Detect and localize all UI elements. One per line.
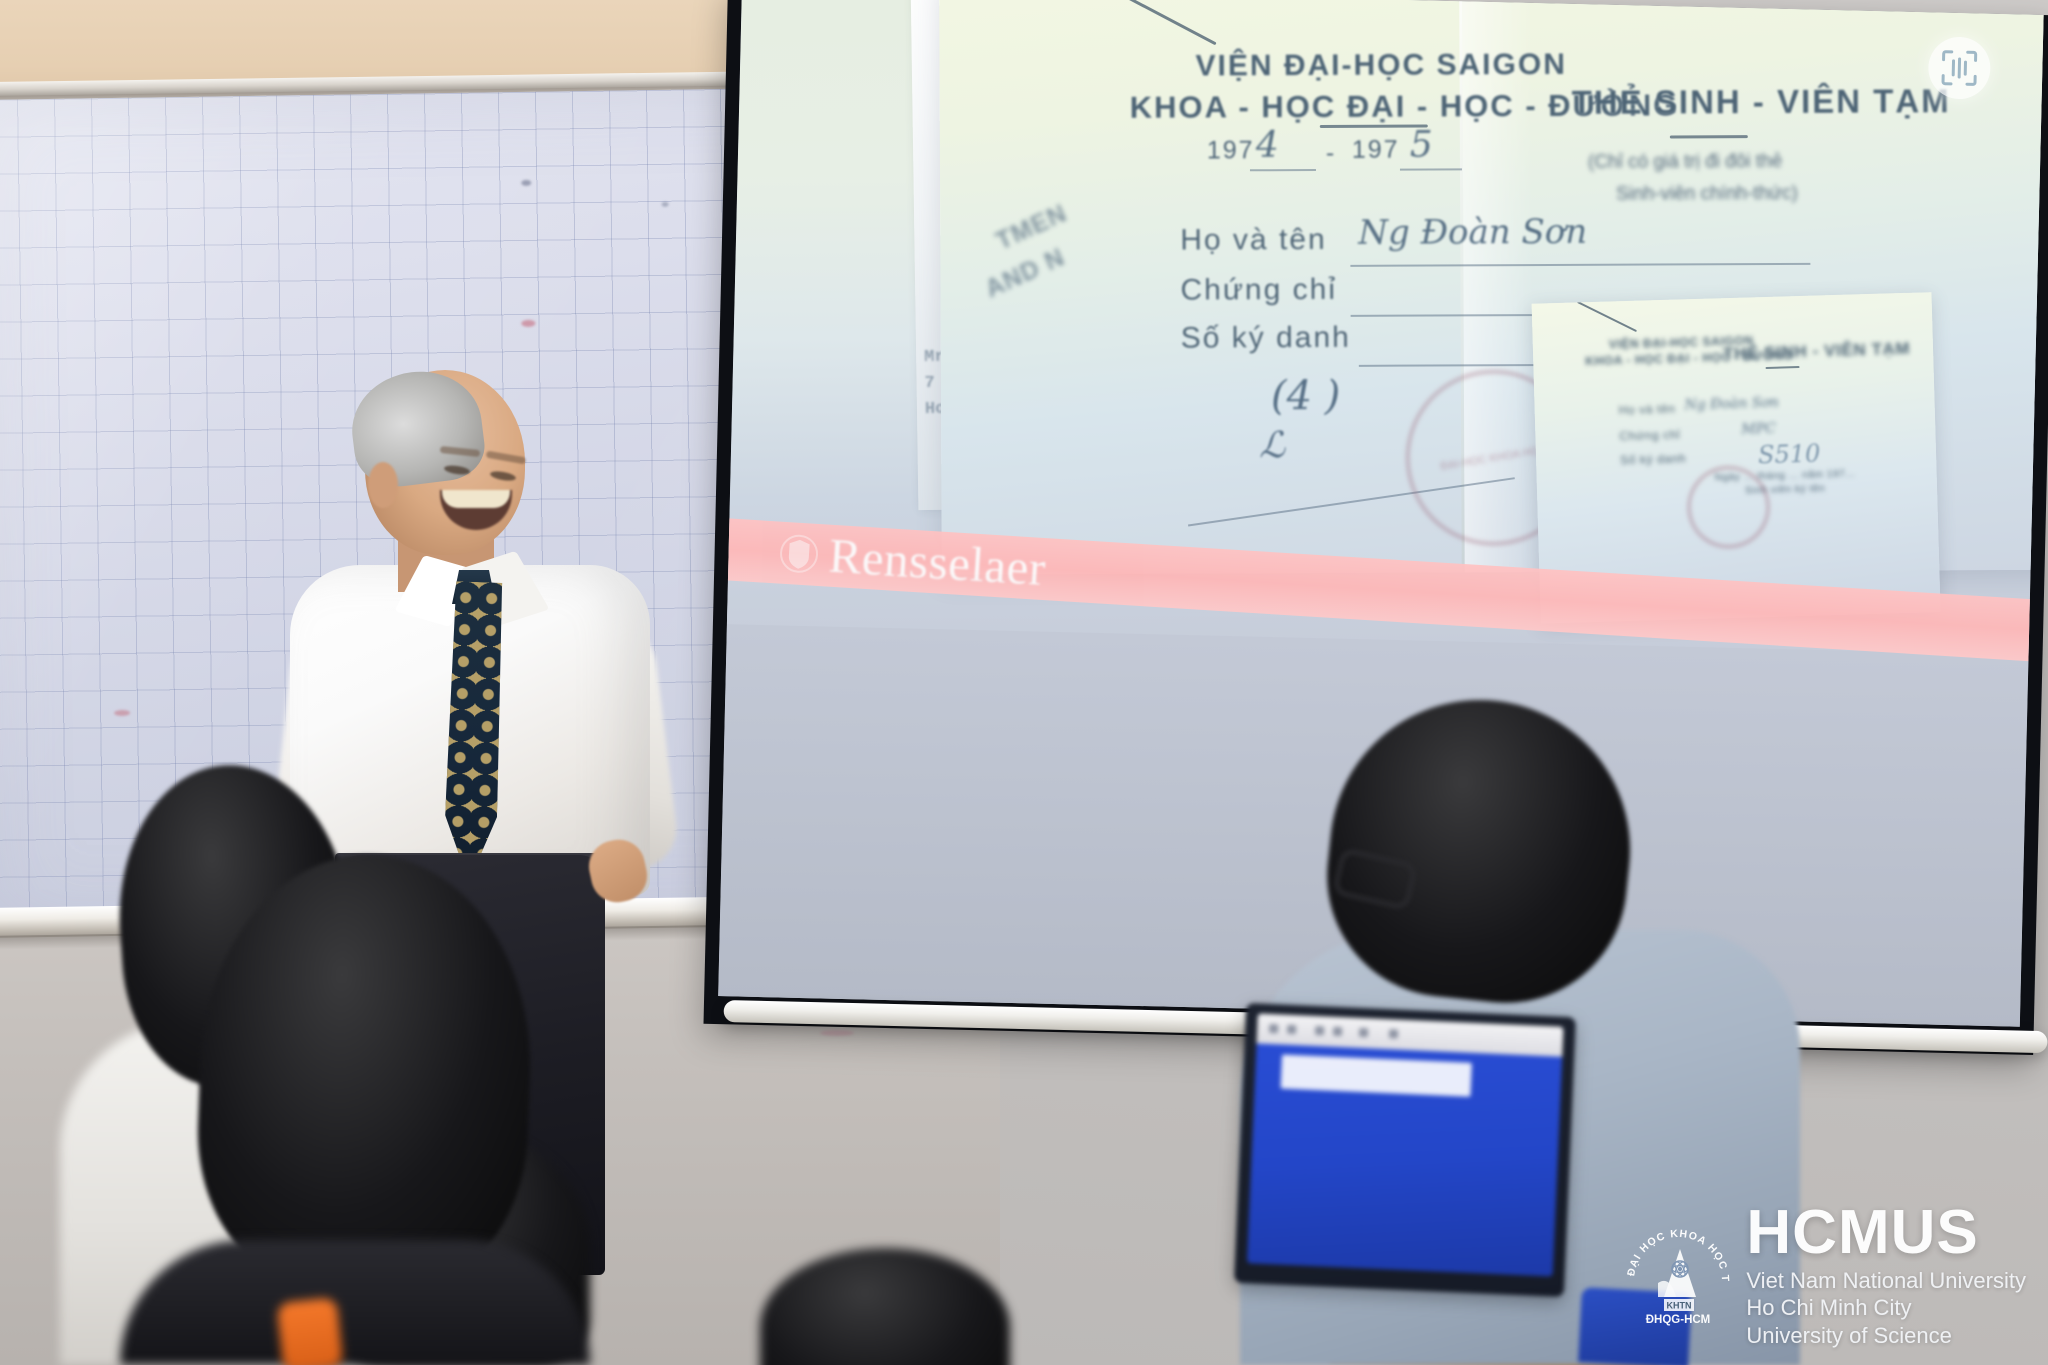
hcmus-watermark-text: HCMUS Viet Nam National University Ho Ch… (1746, 1204, 2026, 1349)
dup-field-value-number: S510 (1758, 439, 1821, 469)
card-year-dash: - (1326, 139, 1336, 168)
dup-field-value-name: Ng Đoàn Sơn (1684, 395, 1779, 414)
card-field-label-number: Số ký danh (1181, 321, 1351, 356)
card-title: THẺ SINH - VIÊN TẠM (1572, 82, 1951, 122)
dup-card-title: THẺ SINH - VIÊN TẠM (1723, 339, 1911, 364)
card-field-line-name (1350, 263, 1810, 267)
seal-inner-text: KHTN (1667, 1300, 1692, 1310)
dup-field-label-name: Họ và tên (1618, 402, 1675, 418)
toolbar-icon (1359, 1028, 1368, 1037)
lecture-hall-photo: Mrs 7 Q Hop VIỆN ĐẠI-HỌC SAIGON KHOA - H… (0, 0, 2048, 1365)
pen-slash-mark (1087, 0, 1217, 45)
laptop-app-toolbar (1257, 1013, 1564, 1056)
toolbar-icon (1389, 1029, 1398, 1038)
rensselaer-wordmark: Rensselaer (827, 531, 1047, 593)
card-field-label-certificate: Chứng chỉ (1180, 273, 1337, 308)
seal-bottom-text: ĐHQG-HCM (1646, 1314, 1711, 1326)
card-year-line-1 (1250, 169, 1316, 171)
card-year-prefix-1: 197 (1207, 136, 1255, 165)
dup-field-label-number: Số ký danh (1620, 451, 1686, 467)
hcmus-acronym: HCMUS (1746, 1204, 2026, 1263)
laptop-screen (1247, 1013, 1564, 1276)
card-title-underline (1670, 135, 1748, 138)
toolbar-icon (1333, 1027, 1342, 1036)
hcmus-watermark: TRƯỜNG ĐẠI HỌC KHOA HỌC TỰ NHIÊN KHTN ĐH… (1624, 1204, 2026, 1349)
rensselaer-logo: Rensselaer (778, 528, 1048, 593)
speaker-ear (368, 462, 398, 508)
rensselaer-shield-icon (778, 529, 821, 577)
card-year-value-1: 4 (1256, 125, 1279, 166)
card-year-prefix-2: 197 (1352, 136, 1400, 165)
toolbar-icon (1315, 1026, 1324, 1035)
wall-scuff (820, 1030, 854, 1036)
laptop-document-window (1281, 1055, 1472, 1097)
card-field-value-name: Ng Đoàn Sơn (1358, 212, 1587, 253)
pen-slash-mark (1577, 301, 1637, 332)
toolbar-icon (1287, 1025, 1296, 1034)
toolbar-icon (1269, 1024, 1278, 1033)
card-note-line-1: (Chỉ có giá trị đi đôi thẻ (1588, 151, 1782, 174)
card-field-label-name: Họ và tên (1180, 223, 1327, 258)
hcmus-subtitle: Viet Nam National University Ho Chi Minh… (1746, 1267, 2026, 1349)
dup-field-label-certificate: Chứng chỉ (1619, 427, 1680, 443)
hcmus-subtitle-line-1: Viet Nam National University (1746, 1267, 2026, 1294)
audience-member-shoulders (120, 1240, 590, 1365)
card-year-line-2 (1400, 168, 1462, 170)
card-handwriting-mark: (4 ) (1271, 373, 1341, 419)
card-note-line-2: Sinh-viên chính-thức) (1616, 183, 1798, 206)
hcmus-subtitle-line-3: University of Science (1746, 1322, 2026, 1349)
card-signature: ℒ (1259, 425, 1285, 466)
hcmus-seal-icon: TRƯỜNG ĐẠI HỌC KHOA HỌC TỰ NHIÊN KHTN ĐH… (1624, 1223, 1732, 1331)
card-university-heading: VIỆN ĐẠI-HỌC SAIGON (1195, 48, 1567, 84)
card-year-value-2: 5 (1410, 125, 1433, 166)
dup-card-title-underline (1766, 366, 1800, 369)
audience-orange-item (277, 1297, 344, 1365)
dup-field-value-certificate: MPC (1741, 421, 1776, 438)
speaker-teeth (442, 490, 510, 508)
laptop (1234, 1003, 1576, 1297)
hcmus-subtitle-line-2: Ho Chi Minh City (1746, 1294, 2026, 1321)
